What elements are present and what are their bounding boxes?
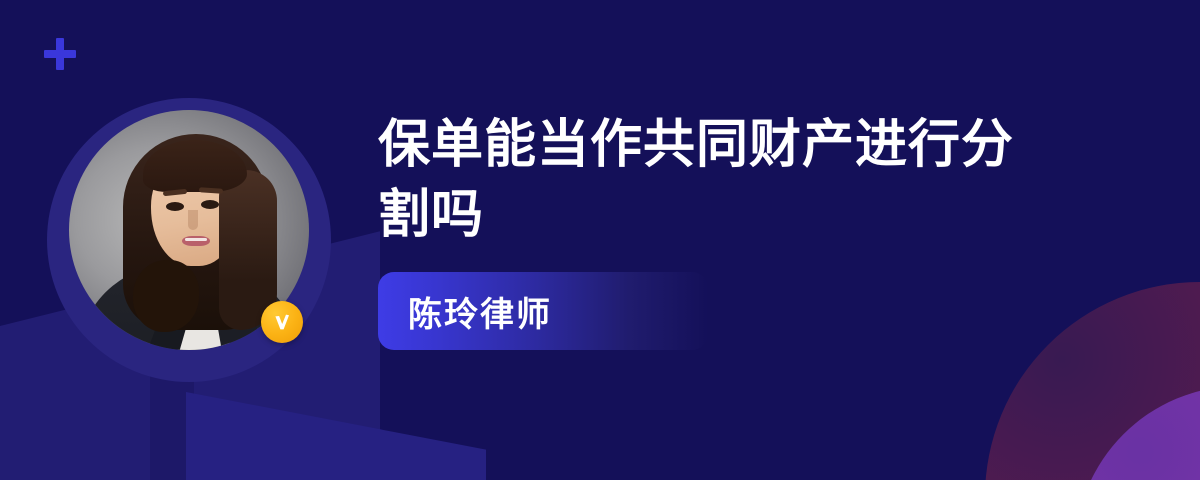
portrait-mouth xyxy=(182,236,210,246)
portrait-nose xyxy=(188,210,198,230)
lawyer-qa-banner: 保单能当作共同财产进行分割吗 陈玲律师 xyxy=(0,0,1200,480)
avatar[interactable] xyxy=(47,98,331,382)
verified-badge-icon xyxy=(261,301,303,343)
portrait-eye-left xyxy=(166,202,184,211)
lawyer-name-label: 陈玲律师 xyxy=(408,287,552,336)
banner-content: 保单能当作共同财产进行分割吗 陈玲律师 xyxy=(378,110,1168,350)
page-title: 保单能当作共同财产进行分割吗 xyxy=(378,110,1038,250)
portrait-hair-curl xyxy=(133,260,199,332)
portrait-eye-right xyxy=(201,200,219,209)
plus-icon xyxy=(44,38,76,70)
lawyer-name-badge[interactable]: 陈玲律师 xyxy=(378,272,708,350)
plus-icon-vertical-bar xyxy=(56,38,64,70)
